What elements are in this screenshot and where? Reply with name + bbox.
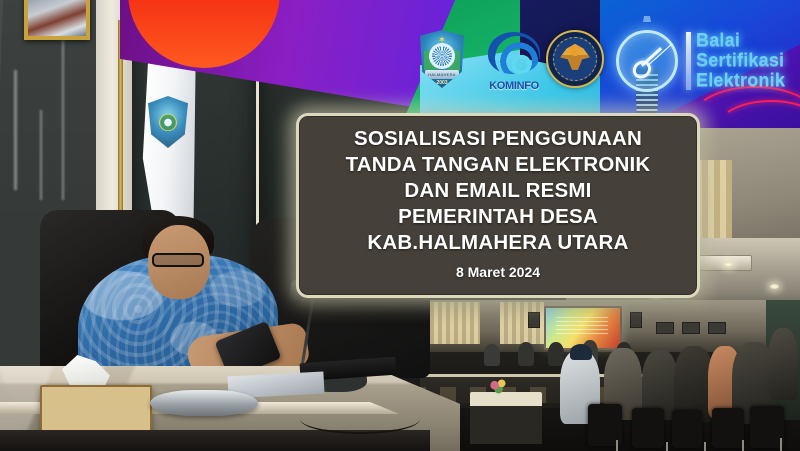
title-line-5: KAB.HALMAHERA UTARA bbox=[367, 230, 628, 256]
bse-wordmark-line-2: Sertifikasi bbox=[696, 50, 796, 70]
gear-icon bbox=[429, 43, 455, 69]
title-line-1: SOSIALISASI PENGGUNAAN bbox=[354, 126, 642, 152]
ceiling-downlight bbox=[770, 284, 779, 289]
key-circle-icon bbox=[616, 30, 678, 92]
eyeglasses bbox=[152, 253, 204, 267]
chair-leg bbox=[742, 440, 744, 451]
balai-sertifikasi-elektronik-logo: Balai Sertifikasi Elektronik bbox=[610, 14, 796, 118]
center-table bbox=[470, 392, 542, 444]
person-cap bbox=[570, 344, 592, 360]
garuda-bird-icon bbox=[560, 44, 590, 70]
chair-leg bbox=[666, 442, 668, 451]
chair bbox=[672, 410, 702, 448]
woven-tissue-box bbox=[40, 385, 152, 435]
seated-person bbox=[518, 342, 534, 366]
ceiling-downlight bbox=[724, 262, 733, 267]
kominfo-logo: KOMINFO bbox=[482, 30, 546, 92]
standing-person bbox=[768, 328, 798, 400]
bse-wordmark-line-1: Balai bbox=[696, 30, 796, 50]
chair-leg bbox=[780, 438, 782, 451]
wall-panel-board bbox=[682, 322, 700, 334]
key-icon bbox=[629, 44, 665, 78]
window-curtain bbox=[426, 302, 480, 344]
seated-person bbox=[484, 344, 500, 366]
kominfo-wordmark: KOMINFO bbox=[482, 80, 546, 92]
kominfo-wave-icon bbox=[488, 32, 540, 74]
emblem-ribbon-label: HALMAHERA UTARA bbox=[425, 70, 458, 79]
seated-person bbox=[548, 342, 564, 366]
wall-panel-board bbox=[708, 322, 726, 334]
title-line-2: TANDA TANGAN ELEKTRONIK bbox=[346, 152, 651, 178]
bse-wordmark-line-3: Elektronik bbox=[696, 70, 796, 90]
title-line-4: PEMERINTAH DESA bbox=[398, 204, 598, 230]
garuda-national-seal-icon bbox=[546, 30, 604, 88]
cable bbox=[300, 404, 420, 434]
chair bbox=[750, 406, 784, 448]
decorative-top-banner: ✶ HALMAHERA UTARA 2003 KOMINFO Balai Ser… bbox=[0, 0, 800, 128]
wall-speaker bbox=[528, 312, 540, 328]
chair-leg bbox=[704, 442, 706, 451]
wall-speaker bbox=[630, 312, 642, 328]
wall-panel-board bbox=[656, 322, 674, 334]
event-photo-canvas: ✶ HALMAHERA UTARA 2003 KOMINFO Balai Ser… bbox=[0, 0, 800, 451]
bse-wordmark: Balai Sertifikasi Elektronik bbox=[696, 30, 796, 90]
chair-leg bbox=[616, 440, 618, 451]
meeting-hall bbox=[420, 300, 800, 451]
logo-divider bbox=[686, 32, 691, 90]
event-title-card: SOSIALISASI PENGGUNAAN TANDA TANGAN ELEK… bbox=[296, 113, 700, 298]
chair bbox=[712, 408, 744, 448]
chair bbox=[632, 408, 664, 448]
silver-tray bbox=[150, 390, 258, 416]
flower-vase bbox=[488, 378, 510, 396]
event-date: 8 Maret 2024 bbox=[456, 264, 540, 281]
title-line-3: DAN EMAIL RESMI bbox=[404, 178, 591, 204]
